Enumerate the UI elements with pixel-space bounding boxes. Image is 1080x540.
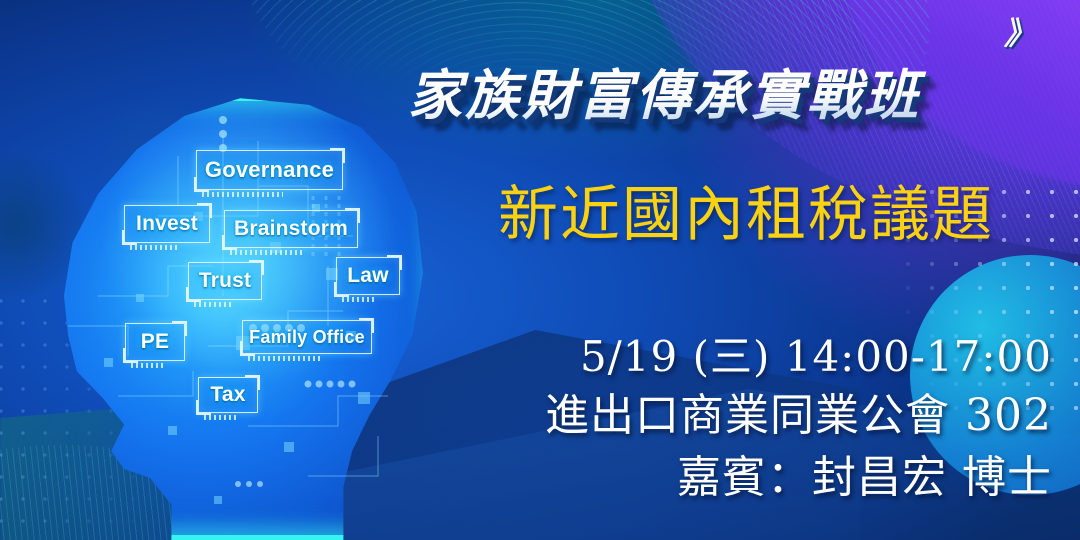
event-venue: 進出口商業同業公會 302 bbox=[545, 390, 1052, 442]
brain-label-text: Governance bbox=[205, 157, 334, 183]
hud-tick-marks bbox=[230, 250, 304, 255]
hud-tick-marks bbox=[248, 356, 320, 361]
hud-tick-marks bbox=[131, 363, 163, 368]
event-speaker: 嘉賓：封昌宏 博士 bbox=[677, 452, 1052, 504]
brain-label-law: Law bbox=[336, 257, 400, 295]
hud-tick-marks bbox=[194, 302, 234, 307]
hud-tick-marks bbox=[204, 415, 236, 420]
brain-label-text: Brainstorm bbox=[234, 217, 348, 241]
hud-tick-marks bbox=[342, 297, 377, 302]
brain-label-text: Law bbox=[347, 264, 388, 288]
brain-label-text: Trust bbox=[199, 269, 251, 293]
brain-label-governance: Governance bbox=[196, 150, 343, 190]
brain-label-family-office: Family Office bbox=[242, 320, 372, 354]
hud-tick-marks bbox=[130, 245, 177, 250]
brain-label-text: Family Office bbox=[249, 327, 365, 348]
page-title: 家族財富傳承實戰班 bbox=[408, 60, 1058, 132]
brain-label-invest: Invest bbox=[124, 205, 210, 243]
brain-label-pe: PE bbox=[125, 323, 185, 361]
brain-label-tax: Tax bbox=[198, 377, 258, 413]
brain-label-text: PE bbox=[141, 330, 169, 354]
brand-logo-icon: 》 bbox=[1004, 8, 1058, 42]
brain-label-trust: Trust bbox=[188, 262, 262, 300]
brain-label-brainstorm: Brainstorm bbox=[224, 210, 358, 248]
hud-tick-marks bbox=[202, 192, 283, 197]
page-subtitle: 新近國內租稅議題 bbox=[498, 178, 1068, 252]
brain-label-text: Invest bbox=[136, 212, 198, 236]
event-poster: GovernanceInvestBrainstormTrustLawPEFami… bbox=[0, 0, 1080, 540]
event-datetime: 5/19 (三) 14:00-17:00 bbox=[580, 332, 1052, 382]
brain-label-text: Tax bbox=[210, 383, 245, 407]
